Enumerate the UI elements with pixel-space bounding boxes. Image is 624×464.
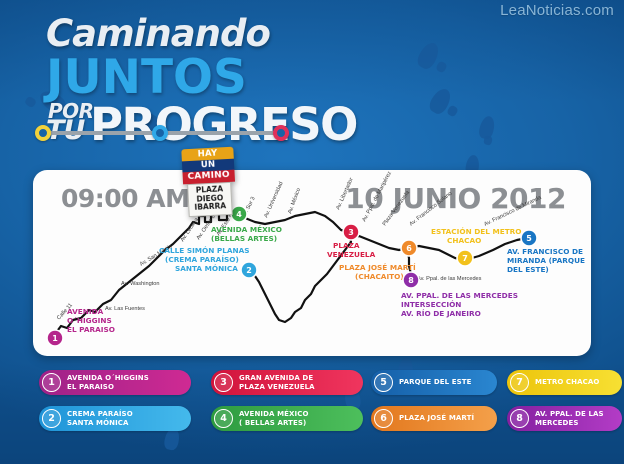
- street-label: Av. Universidad: [263, 181, 284, 219]
- map-stop-label: INTERSECCIÓN: [401, 300, 461, 309]
- legend-label-line: PLAZA JOSÉ MARTÍ: [399, 414, 474, 422]
- progress-bar: [35, 123, 290, 143]
- street-label: Av. Libertador: [335, 177, 354, 211]
- map-stop-label: O´HIGGINS: [67, 316, 112, 325]
- map-stop-label: (CHACAITO): [355, 272, 404, 281]
- legend-number: 4: [214, 409, 233, 428]
- progress-dot-3: [273, 125, 289, 141]
- map-stop-number: 1: [52, 334, 58, 343]
- legend-number: 3: [214, 373, 233, 392]
- street-label: Av. México: [287, 187, 302, 214]
- legend-label: PARQUE DEL ESTE: [393, 378, 480, 386]
- map-stop-label: PLAZA: [333, 241, 360, 250]
- legend-label: CREMA PARAÍSO SANTA MÓNICA: [61, 410, 141, 427]
- legend-label-line: ( BELLAS ARTES): [239, 419, 309, 427]
- legend-number: 2: [42, 409, 61, 428]
- map-stop-1[interactable]: 1 AVENIDA O´HIGGINS EL PARAISO: [47, 307, 115, 346]
- map-stop-label: ESTACIÓN DEL METRO: [431, 227, 522, 236]
- map-stop-number: 6: [406, 244, 412, 253]
- progress-dot-1: [35, 125, 51, 141]
- legend-label: AVENIDA O´HIGGINS EL PARAISO: [61, 374, 157, 391]
- map-stop-number: 7: [462, 254, 468, 263]
- map-stop-label: AV. FRANCISCO DE: [507, 247, 583, 256]
- legend-item-3[interactable]: 3 GRAN AVENIDA DE PLAZA VENEZUELA: [211, 370, 363, 395]
- headline-line-caminando: Caminando: [46, 14, 446, 54]
- map-stop-label: SANTA MÓNICA: [175, 264, 238, 273]
- legend-label-line: METRO CHACAO: [535, 378, 599, 386]
- legend-label-line: PLAZA VENEZUELA: [239, 383, 315, 391]
- progress-dot-2: [152, 125, 168, 141]
- legend-item-6[interactable]: 6 PLAZA JOSÉ MARTÍ: [371, 406, 497, 431]
- legend-label: AV. PPAL. DE LAS MERCEDES: [529, 410, 612, 427]
- legend-label-line: PARQUE DEL ESTE: [399, 378, 472, 386]
- map-stop-label: (CREMA PARAÍSO): [165, 255, 239, 264]
- legend-label-line: AVENIDA MÉXICO: [239, 410, 309, 418]
- legend-label: GRAN AVENIDA DE PLAZA VENEZUELA: [233, 374, 323, 391]
- legend-label-line: CREMA PARAÍSO: [67, 410, 133, 418]
- street-label: Av. Las Fuentes: [105, 306, 145, 312]
- map-stop-number: 2: [246, 266, 252, 275]
- legend-item-1[interactable]: 1 AVENIDA O´HIGGINS EL PARAISO: [39, 370, 191, 395]
- legend-item-5[interactable]: 5 PARQUE DEL ESTE: [371, 370, 497, 395]
- legend-label-line: SANTA MÓNICA: [67, 419, 133, 427]
- map-stop-5[interactable]: 5 AV. FRANCISCO DE MIRANDA (PARQUE DEL E…: [507, 230, 585, 274]
- street-label: Av. Francisco Solano: [409, 191, 454, 228]
- map-stop-label: AVENIDA: [67, 307, 104, 316]
- map-stop-label: EL PARAISO: [67, 325, 115, 334]
- legend-label: PLAZA JOSÉ MARTÍ: [393, 414, 482, 422]
- legend-item-7[interactable]: 7 METRO CHACAO: [507, 370, 622, 395]
- legend-item-4[interactable]: 4 AVENIDA MÉXICO ( BELLAS ARTES): [211, 406, 363, 431]
- legend-number: 1: [42, 373, 61, 392]
- map-stop-label: (BELLAS ARTES): [211, 234, 277, 243]
- street-label: Av. Washington: [121, 281, 159, 287]
- legend-label-line: AV. PPAL. DE LAS: [535, 410, 604, 418]
- flag-location-tag: PLAZA DIEGO IBARRA: [187, 182, 233, 217]
- route-map-card: 09:00 AM 10 JUNIO 2012 Calle 11 Av. Las …: [33, 170, 591, 356]
- route-legend: 1 AVENIDA O´HIGGINS EL PARAISO 2 CREMA P…: [33, 370, 593, 438]
- legend-label-line: EL PARAISO: [67, 383, 149, 391]
- map-stop-2[interactable]: 2 CALLE SIMÓN PLANAS (CREMA PARAÍSO) SAN…: [159, 246, 257, 278]
- street-label: Av. Francisco de Miranda: [483, 194, 543, 227]
- map-stop-label: AV. RÍO DE JANEIRO: [401, 309, 481, 318]
- map-stop-label: DEL ESTE): [507, 265, 549, 274]
- legend-label: AVENIDA MÉXICO ( BELLAS ARTES): [233, 410, 317, 427]
- map-stop-label: VENEZUELA: [327, 250, 376, 259]
- map-stop-number: 5: [526, 234, 532, 243]
- legend-label-line: GRAN AVENIDA DE: [239, 374, 315, 382]
- legend-number: 5: [374, 373, 393, 392]
- street-label: Plaza Venezuela: [382, 189, 412, 227]
- legend-number: 6: [374, 409, 393, 428]
- legend-label: METRO CHACAO: [529, 378, 607, 386]
- map-stop-label: CALLE SIMÓN PLANAS: [159, 246, 250, 255]
- map-stop-label: AV. PPAL. DE LAS MERCEDES: [401, 291, 518, 300]
- map-stop-number: 8: [408, 276, 414, 285]
- street-label: Av. Ppal. de las Mercedes: [417, 276, 482, 282]
- map-stop-number: 4: [236, 210, 242, 219]
- map-stop-label: MIRANDA (PARQUE: [507, 256, 585, 265]
- map-stop-3[interactable]: 3 PLAZA VENEZUELA: [327, 224, 376, 259]
- legend-label-line: AVENIDA O´HIGGINS: [67, 374, 149, 382]
- legend-label-line: MERCEDES: [535, 419, 604, 427]
- map-stop-label: PLAZA JOSÉ MARTÍ: [339, 263, 416, 272]
- legend-number: 8: [510, 409, 529, 428]
- hay-un-camino-flag: HAY UN CAMINO PLAZA DIEGO IBARRA: [181, 147, 236, 217]
- map-stop-label: AVENIDA MÉXICO: [211, 225, 282, 234]
- legend-item-2[interactable]: 2 CREMA PARAÍSO SANTA MÓNICA: [39, 406, 191, 431]
- map-stop-number: 3: [348, 228, 354, 237]
- route-map: Calle 11 Av. Las Fuentes Av. Washington …: [33, 170, 591, 356]
- headline-line-juntos: JUNTOS: [46, 56, 446, 100]
- site-watermark: LeaNoticias.com: [500, 2, 614, 19]
- map-stop-label: CHACAO: [447, 236, 481, 245]
- legend-item-8[interactable]: 8 AV. PPAL. DE LAS MERCEDES: [507, 406, 622, 431]
- legend-number: 7: [510, 373, 529, 392]
